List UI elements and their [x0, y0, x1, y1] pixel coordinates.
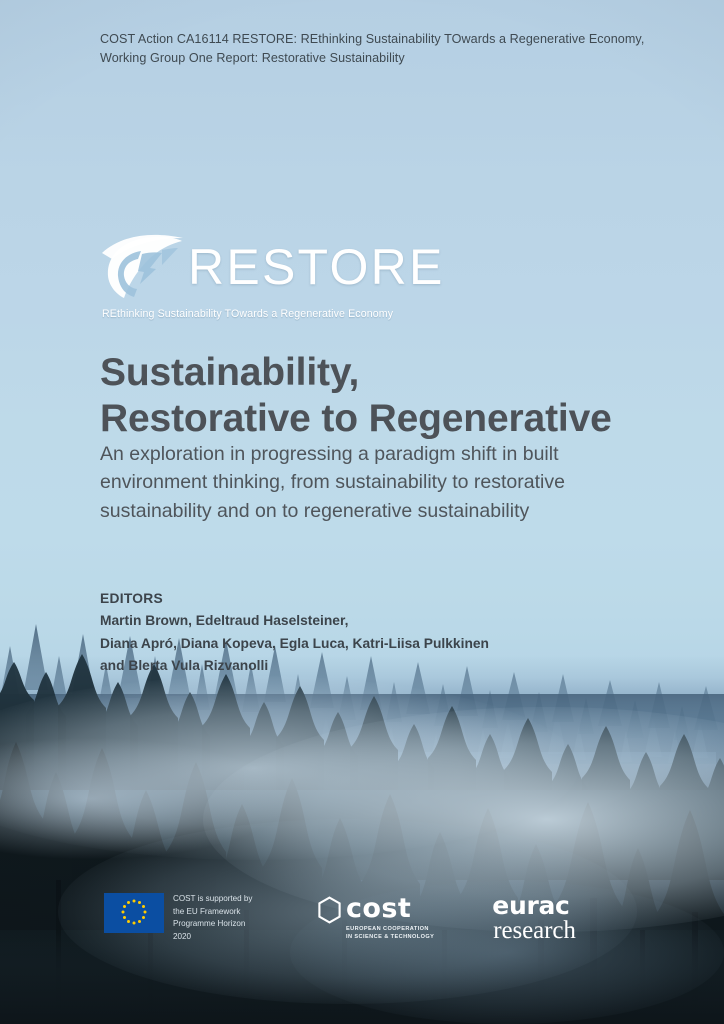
eu-funding-line1: COST is supported by — [173, 893, 253, 906]
restore-leaf-icon — [100, 232, 184, 304]
eu-funding-logo: COST is supported by the EU Framework Pr… — [104, 893, 253, 943]
eu-funding-line3: Programme Horizon — [173, 918, 253, 931]
cost-action-note-line2: Working Group One Report: Restorative Su… — [100, 49, 660, 68]
page-title-line1: Sustainability, — [100, 350, 680, 396]
editors-line3: and Blerta Vula Rizvanolli — [100, 655, 640, 677]
restore-logo: RESTORE REthinking Sustainability TOward… — [100, 232, 520, 320]
cost-tagline-line1: EUROPEAN COOPERATION — [346, 925, 434, 934]
footer-logos: COST is supported by the EU Framework Pr… — [104, 893, 576, 944]
page-title: Sustainability, Restorative to Regenerat… — [100, 350, 680, 442]
cost-tagline-line2: IN SCIENCE & TECHNOLOGY — [346, 933, 434, 942]
cost-action-note: COST Action CA16114 RESTORE: REthinking … — [100, 30, 660, 68]
eu-funding-line4: 2020 — [173, 931, 253, 944]
restore-wordmark: RESTORE — [188, 242, 445, 294]
editors-heading: EDITORS — [100, 588, 640, 610]
cost-logo: cost EUROPEAN COOPERATION IN SCIENCE & T… — [317, 893, 434, 942]
page-subtitle-line1: An exploration in progressing a paradigm… — [100, 440, 660, 468]
eu-flag-icon — [104, 893, 164, 933]
eurac-research-word: research — [493, 918, 575, 944]
cost-tagline: EUROPEAN COOPERATION IN SCIENCE & TECHNO… — [346, 925, 434, 942]
editors-line2: Diana Apró, Diana Kopeva, Egla Luca, Kat… — [100, 633, 640, 655]
page-title-line2: Restorative to Regenerative — [100, 396, 680, 442]
eu-funding-text: COST is supported by the EU Framework Pr… — [173, 893, 253, 943]
page-subtitle-line2: environment thinking, from sustainabilit… — [100, 468, 660, 496]
cost-hexagon-icon — [317, 896, 342, 924]
editors-block: EDITORS Martin Brown, Edeltraud Haselste… — [100, 588, 640, 677]
editors-line1: Martin Brown, Edeltraud Haselsteiner, — [100, 610, 640, 632]
restore-logo-tagline: REthinking Sustainability TOwards a Rege… — [102, 308, 520, 320]
eurac-wordmark: eurac — [492, 894, 575, 918]
cost-action-note-line1: COST Action CA16114 RESTORE: REthinking … — [100, 30, 660, 49]
eurac-research-logo: eurac research — [492, 893, 575, 944]
book-cover: COST Action CA16114 RESTORE: REthinking … — [0, 0, 724, 1024]
page-subtitle-line3: sustainability and on to regenerative su… — [100, 497, 660, 525]
cost-wordmark: cost — [346, 896, 434, 922]
page-subtitle: An exploration in progressing a paradigm… — [100, 440, 660, 525]
eu-funding-line2: the EU Framework — [173, 906, 253, 919]
